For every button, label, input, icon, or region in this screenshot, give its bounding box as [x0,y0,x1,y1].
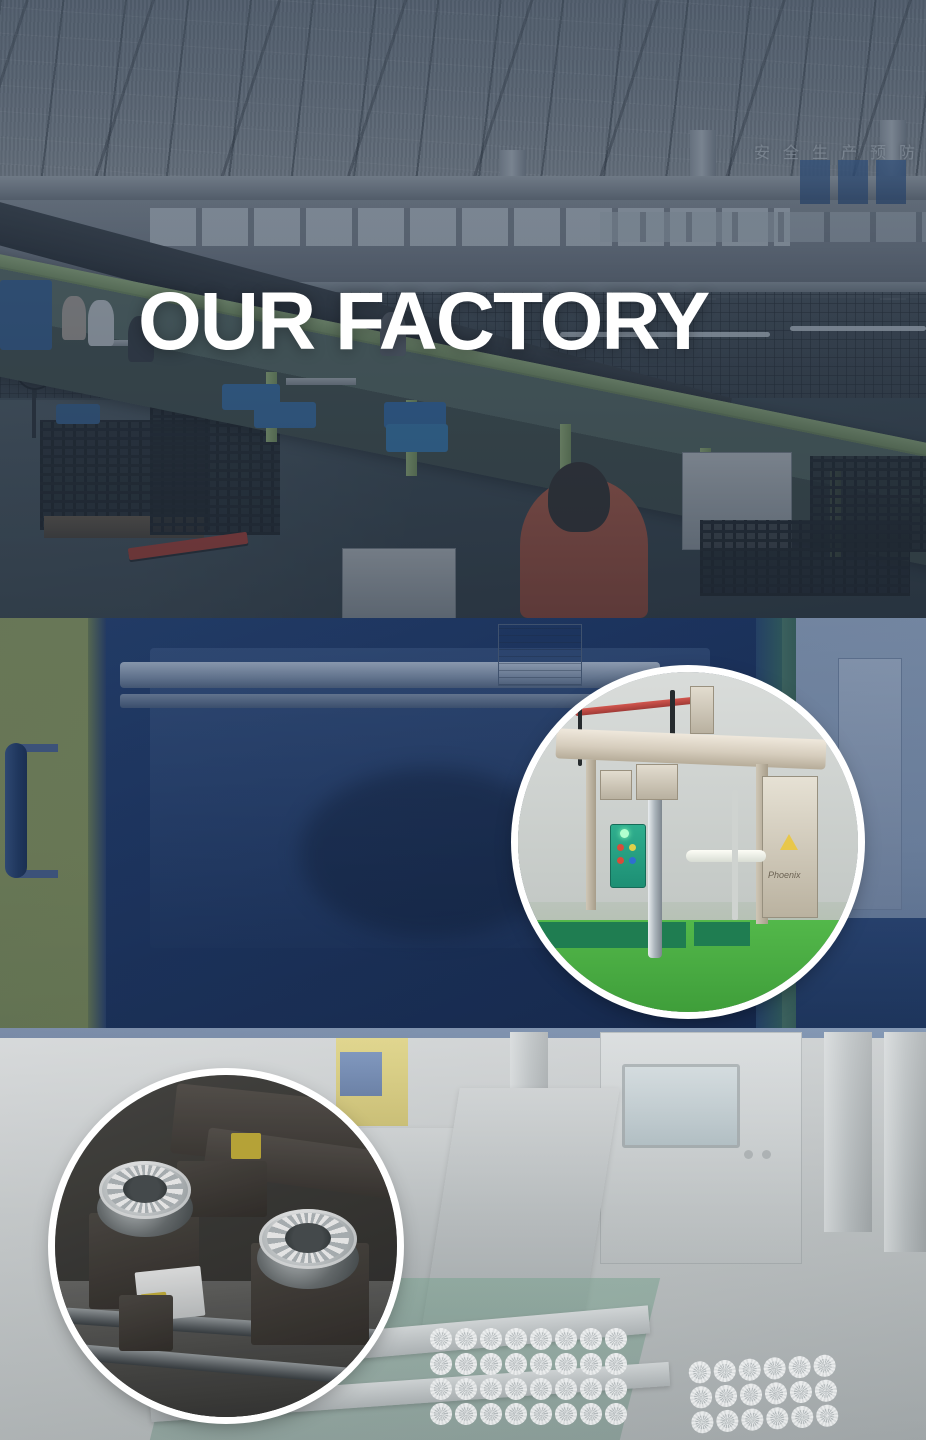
inset-button [629,844,636,851]
inset-cable [670,690,675,736]
inset-light-tube [686,850,766,862]
inset-button [629,857,636,864]
warning-triangle-icon [780,834,798,850]
page-title-our-factory: OUR FACTORY [138,281,708,363]
factory-banner-page: 安 全 生 产 预 防 [0,0,926,1440]
inset-photo-cnc-chucks [55,1075,397,1417]
power-led-icon [620,829,629,838]
inset-brand-mark: Phoenix [768,870,801,880]
inset-hose [732,790,738,920]
inset-green-tray [694,922,750,946]
overlay-tint [55,1075,397,1417]
inset-junction-box [690,686,714,734]
inset-button [617,857,624,864]
inset-button [617,844,624,851]
inset-servo-block [600,770,632,800]
inset-gripper-head [636,764,678,800]
inset-vertical-post [586,760,596,910]
inset-green-tray [536,922,686,948]
inset-photo-injection-robot: Phoenix [518,672,858,1012]
section-our-factory: 安 全 生 产 预 防 [0,0,926,618]
